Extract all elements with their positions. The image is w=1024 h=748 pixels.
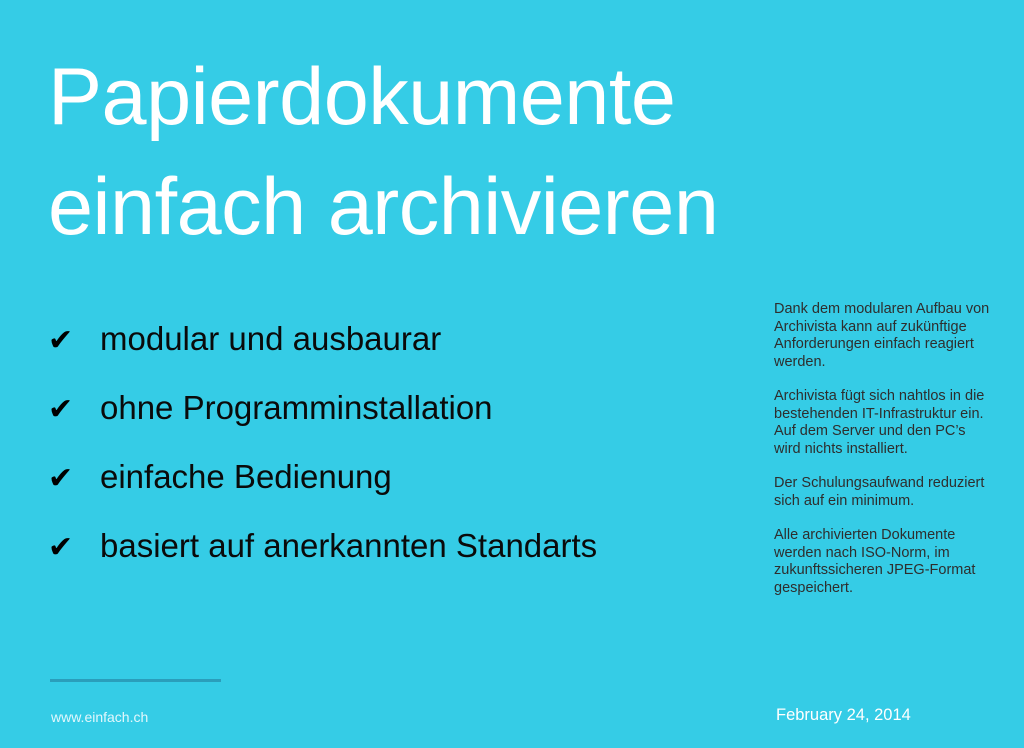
list-item-label: modular und ausbaurar: [100, 322, 441, 355]
sidebar-paragraph: Der Schulungsaufwand reduziert sich auf …: [774, 475, 992, 510]
list-item: ✔ einfache Bedienung: [48, 460, 748, 529]
sidebar-description: Dank dem modularen Aufbau von Archivista…: [774, 301, 992, 597]
footer-divider: [50, 679, 221, 682]
list-item: ✔ basiert auf anerkannten Standarts: [48, 529, 748, 598]
list-item-label: einfache Bedienung: [100, 460, 392, 493]
checkmark-icon: ✔: [48, 395, 100, 425]
footer-date: February 24, 2014: [776, 705, 911, 725]
list-item-label: ohne Programminstallation: [100, 391, 493, 424]
feature-bullet-list: ✔ modular und ausbaurar ✔ ohne Programmi…: [48, 322, 748, 598]
title-line-1: Papierdokumente: [48, 42, 878, 152]
checkmark-icon: ✔: [48, 326, 100, 356]
checkmark-icon: ✔: [48, 533, 100, 563]
page-title: Papierdokumente einfach archivieren: [48, 42, 878, 262]
list-item-label: basiert auf anerkannten Standarts: [100, 529, 597, 562]
list-item: ✔ modular und ausbaurar: [48, 322, 748, 391]
footer-website-url: www.einfach.ch: [51, 708, 148, 726]
sidebar-paragraph: Alle archivierten Dokumente werden nach …: [774, 527, 992, 597]
presentation-slide: Papierdokumente einfach archivieren ✔ mo…: [0, 0, 1024, 748]
title-line-2: einfach archivieren: [48, 152, 878, 262]
sidebar-paragraph: Dank dem modularen Aufbau von Archivista…: [774, 301, 992, 371]
sidebar-paragraph: Archivista fügt sich nahtlos in die best…: [774, 388, 992, 458]
checkmark-icon: ✔: [48, 464, 100, 494]
list-item: ✔ ohne Programminstallation: [48, 391, 748, 460]
